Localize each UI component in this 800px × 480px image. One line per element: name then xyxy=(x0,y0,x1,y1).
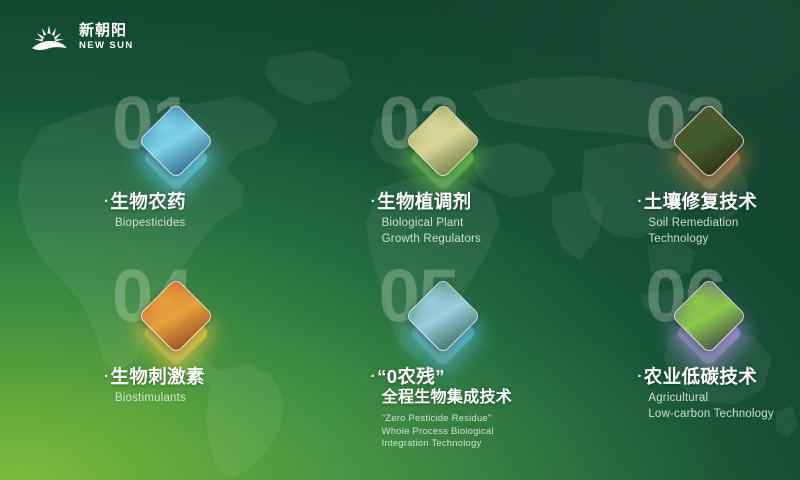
technology-item-06[interactable]: 06·农业低碳技术AgriculturalLow-carbon Technolo… xyxy=(533,259,800,434)
item-title-cn-text: 土壤修复技术 xyxy=(644,191,757,212)
item-title-en-line2: Low-carbon Technology xyxy=(648,407,800,422)
bullet-dot-icon: · xyxy=(104,368,109,385)
bullet-dot-icon: · xyxy=(637,368,642,385)
slide-canvas: 新朝阳 NEW SUN 01·生物农药Biopesticides02·生物植调剂… xyxy=(0,0,800,480)
item-title-en: Soil Remediation xyxy=(648,216,800,231)
technology-item-02[interactable]: 02·生物植调剂Biological PlantGrowth Regulator… xyxy=(267,84,534,259)
low-carbon-agriculture-diamond-icon[interactable] xyxy=(673,285,747,363)
biopesticides-diamond-icon[interactable] xyxy=(140,110,214,188)
item-labels: ·土壤修复技术Soil RemediationTechnology xyxy=(637,190,800,247)
technology-item-03[interactable]: 03·土壤修复技术Soil RemediationTechnology xyxy=(533,84,800,259)
bullet-dot-icon: · xyxy=(371,368,376,385)
bullet-dot-icon: · xyxy=(104,193,109,210)
technology-item-04[interactable]: 04·生物刺激素Biostimulants xyxy=(0,259,267,434)
technology-item-05[interactable]: 05·“0农残”全程生物集成技术"Zero Pesticide Residue"… xyxy=(267,259,534,434)
item-title-cn-text: 生物植调剂 xyxy=(377,191,472,212)
item-title-en: Agricultural xyxy=(648,391,800,406)
item-title-cn: ·土壤修复技术 xyxy=(637,190,800,213)
sunrise-leaf-icon xyxy=(28,20,70,54)
bullet-dot-icon: · xyxy=(637,193,642,210)
item-title-cn-text: “0农残” xyxy=(377,366,445,387)
soil-remediation-diamond-icon[interactable] xyxy=(673,110,747,188)
plant-growth-regulator-diamond-icon[interactable] xyxy=(407,110,481,188)
item-title-cn-text: 生物农药 xyxy=(110,191,186,212)
item-title-cn-text: 生物刺激素 xyxy=(110,366,205,387)
item-labels: ·农业低碳技术AgriculturalLow-carbon Technology xyxy=(637,365,800,422)
zero-pesticide-residue-diamond-icon[interactable] xyxy=(407,285,481,363)
brand-logo[interactable]: 新朝阳 NEW SUN xyxy=(28,20,134,54)
brand-name-cn: 新朝阳 xyxy=(79,23,134,38)
item-title-en-line2: Technology xyxy=(648,232,800,247)
technology-item-grid: 01·生物农药Biopesticides02·生物植调剂Biological P… xyxy=(0,84,800,464)
bullet-dot-icon: · xyxy=(371,193,376,210)
technology-item-01[interactable]: 01·生物农药Biopesticides xyxy=(0,84,267,259)
item-title-cn: ·农业低碳技术 xyxy=(637,365,800,388)
item-title-cn-text: 农业低碳技术 xyxy=(644,366,757,387)
biostimulants-diamond-icon[interactable] xyxy=(140,285,214,363)
brand-name-en: NEW SUN xyxy=(79,41,134,51)
